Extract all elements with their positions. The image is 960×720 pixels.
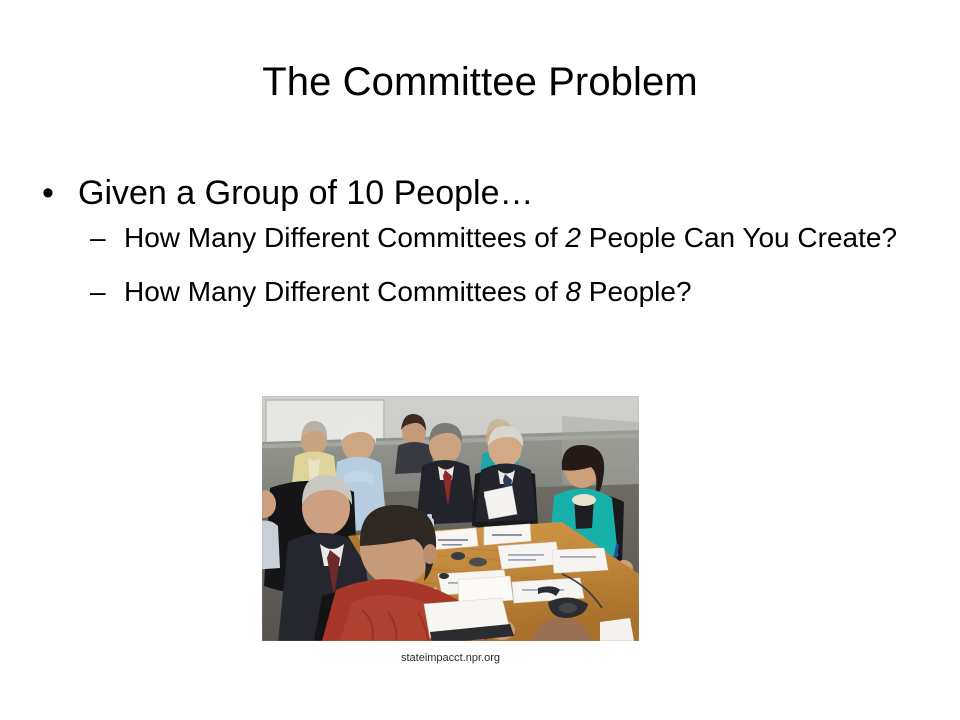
- bullet-level2-first-text: How Many Different Committees of 2 Peopl…: [124, 220, 930, 256]
- sub1-tail: People Can You Create?: [581, 222, 897, 253]
- slide-body: • Given a Group of 10 People… – How Many…: [30, 172, 930, 310]
- bullet-level2-second-text: How Many Different Committees of 8 Peopl…: [124, 274, 930, 310]
- photo-credit-caption: stateimpacct.npr.org: [262, 651, 639, 665]
- bullet-dash-icon: –: [90, 220, 106, 256]
- slide-title: The Committee Problem: [0, 58, 960, 106]
- sub2-tail: People?: [581, 276, 692, 307]
- sub2-lead: How Many Different Committees of: [124, 276, 565, 307]
- bullet-level2-first: – How Many Different Committees of 2 Peo…: [30, 220, 930, 256]
- sub1-emphasis: 2: [565, 222, 581, 253]
- sub2-emphasis: 8: [565, 276, 581, 307]
- bullet-dot-icon: •: [42, 172, 54, 214]
- bullet-spacer: [30, 256, 930, 270]
- slide-canvas: The Committee Problem • Given a Group of…: [0, 0, 960, 720]
- committee-photo-container: [262, 396, 639, 641]
- bullet-level1: • Given a Group of 10 People…: [30, 172, 930, 214]
- sub1-lead: How Many Different Committees of: [124, 222, 565, 253]
- bullet-level1-text: Given a Group of 10 People…: [78, 174, 534, 212]
- bullet-dash-icon: –: [90, 274, 106, 310]
- committee-meeting-photo: [262, 396, 639, 641]
- bullet-level2-second: – How Many Different Committees of 8 Peo…: [30, 274, 930, 310]
